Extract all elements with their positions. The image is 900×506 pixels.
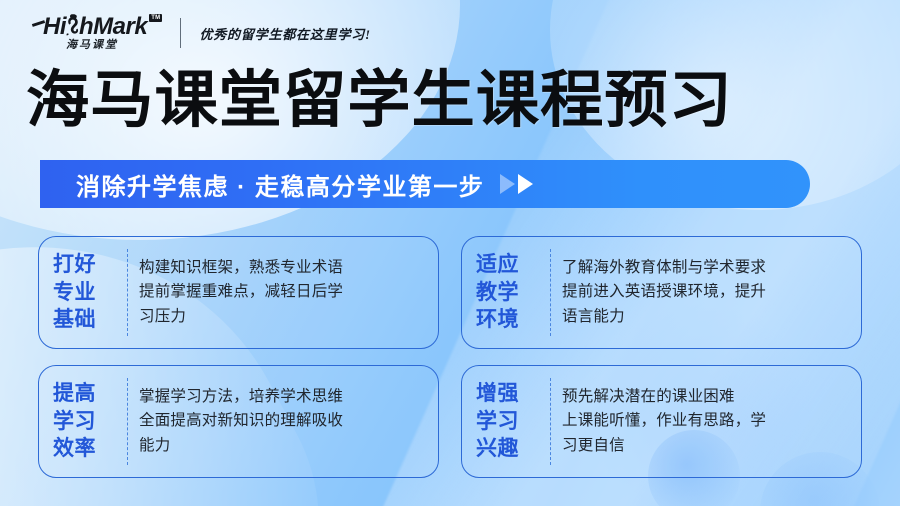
benefit-body-line: 构建知识框架，熟悉专业术语 <box>139 256 426 280</box>
brand-tagline: 优秀的留学生都在这里学习! <box>199 24 370 43</box>
subtitle-banner: 消除升学焦虑 · 走稳高分学业第一步 <box>40 160 810 208</box>
highmark-logo: Hi hMark TM 海马课堂 <box>32 14 162 52</box>
benefit-body-line: 语言能力 <box>562 305 849 329</box>
benefit-key-line: 效率 <box>53 435 119 463</box>
benefit-card-key: 适应 教学 环境 <box>476 246 542 339</box>
dashed-divider <box>550 249 551 336</box>
benefit-body-line: 掌握学习方法，培养学术思维 <box>139 385 426 409</box>
brand-header: Hi hMark TM 海马课堂 优秀的留学生都在这里学习! <box>32 14 371 52</box>
benefit-key-line: 环境 <box>476 306 542 334</box>
benefit-body-line: 全面提高对新知识的理解吸收 <box>139 409 426 433</box>
benefit-card-key: 增强 学习 兴趣 <box>476 375 542 468</box>
dashed-divider <box>127 378 128 465</box>
benefit-body-line: 习压力 <box>139 305 426 329</box>
header-divider <box>180 18 181 48</box>
dashed-divider <box>127 249 128 336</box>
benefit-key-line: 增强 <box>476 380 542 408</box>
benefit-body-line: 预先解决潜在的课业困难 <box>562 385 849 409</box>
benefit-key-line: 打好 <box>53 251 119 279</box>
benefit-card-body: 预先解决潜在的课业困难 上课能听懂，作业有思路，学 习更自信 <box>562 375 849 468</box>
benefit-key-line: 学习 <box>476 408 542 436</box>
logo-wordmark-suffix: hMark <box>79 15 147 39</box>
benefit-card-key: 提高 学习 效率 <box>53 375 119 468</box>
benefit-card-body: 掌握学习方法，培养学术思维 全面提高对新知识的理解吸收 能力 <box>139 375 426 468</box>
trademark-badge: TM <box>149 14 162 22</box>
page-title: 海马课堂留学生课程预习 <box>26 70 733 132</box>
benefit-card: 增强 学习 兴趣 预先解决潜在的课业困难 上课能听懂，作业有思路，学 习更自信 <box>461 365 862 478</box>
subtitle-text: 消除升学焦虑 · 走稳高分学业第一步 <box>76 167 484 202</box>
arrow-group <box>500 174 533 194</box>
benefit-key-line: 兴趣 <box>476 435 542 463</box>
benefit-key-line: 专业 <box>53 279 119 307</box>
play-arrow-icon <box>518 174 533 194</box>
benefit-body-line: 了解海外教育体制与学术要求 <box>562 256 849 280</box>
benefit-body-line: 习更自信 <box>562 434 849 458</box>
benefit-card-grid: 打好 专业 基础 构建知识框架，熟悉专业术语 提前掌握重难点，减轻日后学 习压力… <box>38 236 862 478</box>
benefit-card-body: 了解海外教育体制与学术要求 提前进入英语授课环境，提升 语言能力 <box>562 246 849 339</box>
dashed-divider <box>550 378 551 465</box>
benefit-key-line: 教学 <box>476 279 542 307</box>
benefit-body-line: 上课能听懂，作业有思路，学 <box>562 409 849 433</box>
benefit-card-body: 构建知识框架，熟悉专业术语 提前掌握重难点，减轻日后学 习压力 <box>139 246 426 339</box>
promo-poster: Hi hMark TM 海马课堂 优秀的留学生都在这里学习! 海马课堂留学生课程… <box>0 0 900 506</box>
benefit-body-line: 能力 <box>139 434 426 458</box>
benefit-card-key: 打好 专业 基础 <box>53 246 119 339</box>
benefit-card: 提高 学习 效率 掌握学习方法，培养学术思维 全面提高对新知识的理解吸收 能力 <box>38 365 439 478</box>
benefit-card: 适应 教学 环境 了解海外教育体制与学术要求 提前进入英语授课环境，提升 语言能… <box>461 236 862 349</box>
benefit-body-line: 提前掌握重难点，减轻日后学 <box>139 280 426 304</box>
seahorse-icon <box>66 14 79 39</box>
play-arrow-icon-faded <box>500 174 515 194</box>
benefit-key-line: 适应 <box>476 251 542 279</box>
benefit-card: 打好 专业 基础 构建知识框架，熟悉专业术语 提前掌握重难点，减轻日后学 习压力 <box>38 236 439 349</box>
benefit-key-line: 基础 <box>53 306 119 334</box>
benefit-body-line: 提前进入英语授课环境，提升 <box>562 280 849 304</box>
benefit-key-line: 学习 <box>53 408 119 436</box>
logo-wordmark-prefix: Hi <box>43 15 66 39</box>
benefit-key-line: 提高 <box>53 380 119 408</box>
